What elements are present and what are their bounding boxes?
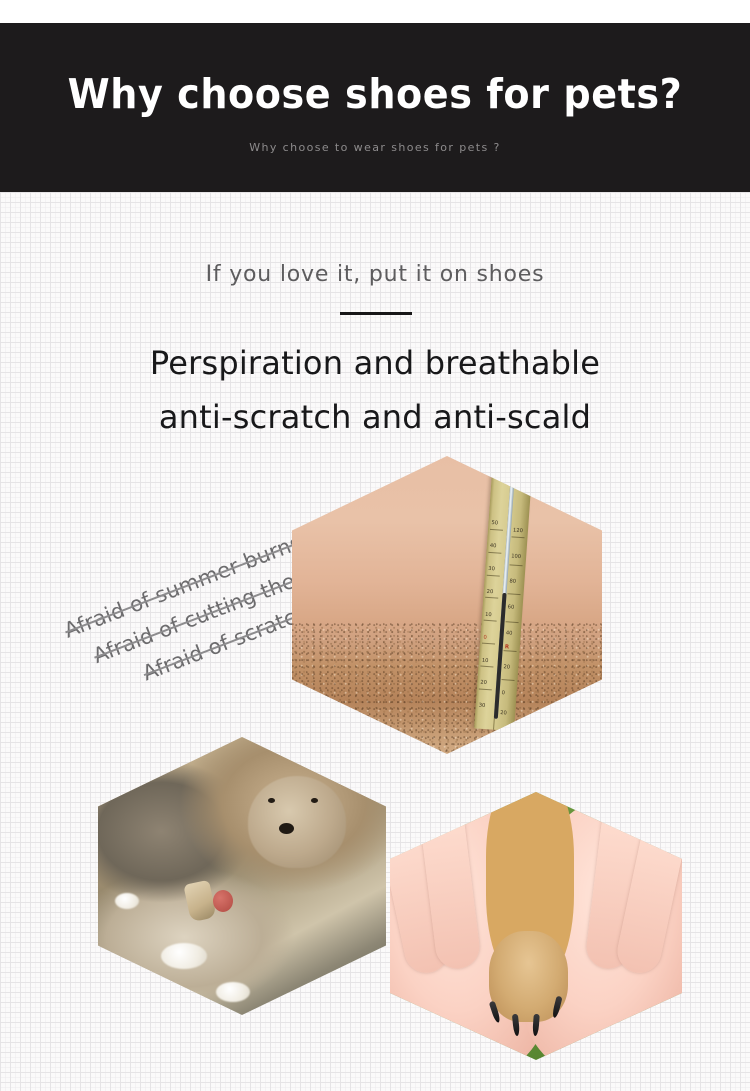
dog-head — [248, 776, 346, 868]
headline-line-2: anti-scratch and anti-scald — [0, 390, 750, 444]
section-divider — [340, 312, 412, 315]
headline-line-1: Perspiration and breathable — [0, 336, 750, 390]
header-banner: Why choose shoes for pets? Why choose to… — [0, 23, 750, 192]
bed-stuffing — [216, 982, 250, 1002]
promo-page: Why choose shoes for pets? Why choose to… — [0, 0, 750, 1091]
bed-stuffing — [161, 943, 207, 969]
page-subtitle: Why choose to wear shoes for pets ? — [0, 141, 750, 154]
lead-text: If you love it, put it on shoes — [0, 260, 750, 290]
headline: Perspiration and breathable anti-scratch… — [0, 336, 750, 444]
chew-toy-ball — [213, 890, 233, 912]
bed-stuffing — [115, 893, 139, 909]
page-title: Why choose shoes for pets? — [26, 70, 724, 118]
chew-toy — [184, 879, 217, 922]
